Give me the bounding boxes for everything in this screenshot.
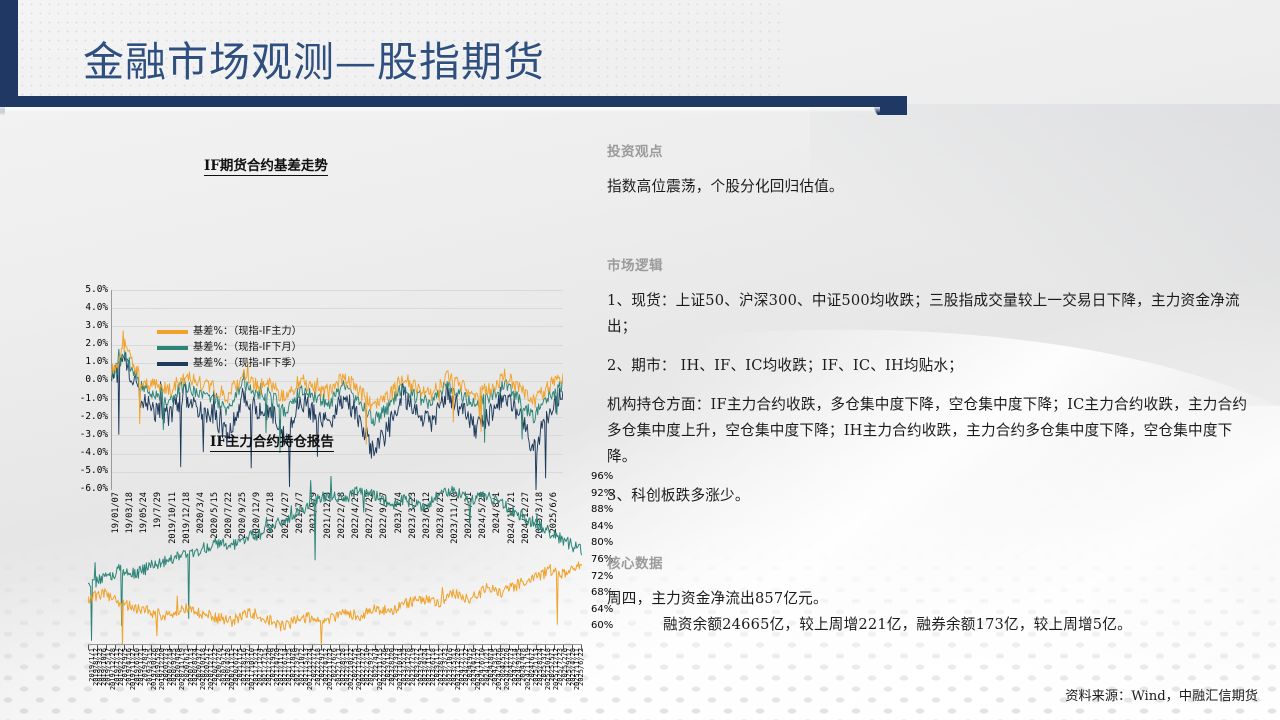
chart2-x-tick: 2021/3/19 xyxy=(293,648,297,686)
text-logic-spot: 1、现货：上证50、沪深300、中证500均收跌；三股指成交量较上一交易日下降，… xyxy=(607,288,1257,340)
spacer-2 xyxy=(607,522,1257,552)
chart2-x-tick: 2023/12/8 xyxy=(404,648,408,686)
chart1-legend-item: 基差%：（现指-IF下月） xyxy=(157,340,302,356)
chart1-y-tick: 4.0% xyxy=(62,299,108,317)
text-investment-view: 指数高位震荡，个股分化回归估值。 xyxy=(607,174,1257,200)
heading-market-logic: 市场逻辑 xyxy=(607,254,1257,274)
slide-header: 金融市场观测—股指期货 xyxy=(0,0,1280,112)
text-logic-institutional: 机构持仓方面：IF主力合约收跌，多仓集中度下降，空仓集中度下降；IC主力合约收跌… xyxy=(607,392,1257,470)
chart-if-basis-trend: IF期货合约基差走势 5.0%4.0%3.0%2.0%1.0%0.0%-1.0%… xyxy=(62,140,562,430)
chart2-x-tick: 2020/6/2 xyxy=(183,648,187,682)
text-core-margin-balance: 融资余额24665亿，较上周增221亿，融券余额173亿，较上周增5亿。 xyxy=(607,612,1257,638)
chart2-series-canvas xyxy=(88,476,582,645)
chart1-legend-item: 基差%：（现指-IF下季） xyxy=(157,356,302,372)
chart2-x-tick: 2022/6/6 xyxy=(330,648,334,682)
chart2-x-tick: 2024/6/10 xyxy=(478,648,482,686)
chart1-y-tick: 5.0% xyxy=(62,281,108,299)
chart2-x-tick: 2020/2/6 xyxy=(215,648,219,682)
chart2-x-tick: 2023/3/23 xyxy=(441,648,445,686)
chart2-x-tick: 2021/12/4 xyxy=(256,648,260,686)
chart1-y-tick: -1.0% xyxy=(62,390,108,408)
chart1-y-tick: -2.0% xyxy=(62,408,108,426)
chart2-x-tick: 2022/9/21 xyxy=(367,648,371,686)
legend-label: 基差%：（现指-IF主力） xyxy=(193,324,302,340)
legend-label: 基差%：（现指-IF下月） xyxy=(193,340,302,356)
chart2-x-tick: 2024/4/8 xyxy=(519,648,523,682)
chart1-legend-item: 基差%：（现指-IF主力） xyxy=(157,324,302,340)
chart1-y-tick: 1.0% xyxy=(62,353,108,371)
chart2-x-tick: 2020/9/17 xyxy=(220,648,224,686)
chart1-y-tick: 0.0% xyxy=(62,371,108,389)
chart2-plot-area xyxy=(88,476,582,645)
chart2-x-tick: 2023/10/6 xyxy=(446,648,450,686)
text-core-fund-flow: 周四，主力资金净流出857亿元。 xyxy=(607,586,1257,612)
chart2-x-tick: 2020/11/19 xyxy=(178,648,182,690)
chart2-title: IF主力合约持仓报告 xyxy=(210,430,334,452)
heading-core-data: 核心数据 xyxy=(607,552,1257,572)
chart1-legend: 基差%：（现指-IF主力）基差%：（现指-IF下月）基差%：（现指-IF下季） xyxy=(157,324,302,372)
commentary-panel: 投资观点 指数高位震荡，个股分化回归估值。 市场逻辑 1、现货：上证50、沪深3… xyxy=(607,140,1257,638)
text-logic-futures: 2、期市： IH、IF、IC均收跌；IF、IC、IH均贴水； xyxy=(607,353,1257,379)
chart1-y-tick: 2.0% xyxy=(62,335,108,353)
chart-if-main-position-report: IF主力合约持仓报告 前20名多仓总量占比前20名空仓总量占比前20名多仓总量占… xyxy=(62,428,572,706)
chart1-title: IF期货合约基差走势 xyxy=(204,154,328,176)
heading-investment-view: 投资观点 xyxy=(607,140,1257,160)
page-title: 金融市场观测—股指期货 xyxy=(83,36,545,88)
legend-color-swatch xyxy=(157,346,188,349)
chart2-x-axis-labels: 2019/1/12019/8/122019/3/232019/10/62019/… xyxy=(88,648,582,720)
text-logic-star-market: 3、科创板跌多涨少。 xyxy=(607,483,1257,509)
header-divider-bar xyxy=(0,96,905,107)
chart2-x-tick: 2025/6/22 xyxy=(577,648,581,686)
legend-label: 基差%：（现指-IF下季） xyxy=(193,356,302,372)
chart1-y-tick: 3.0% xyxy=(62,317,108,335)
chart2-x-tick: 2019/8/4 xyxy=(141,648,145,682)
source-note: 资料来源：Wind，中融汇信期货 xyxy=(1065,685,1258,704)
legend-color-swatch xyxy=(157,330,188,333)
header-divider-highlight xyxy=(0,107,880,113)
chart2-x-tick: 2019/5/17 xyxy=(104,648,108,686)
chart2-x-tick: 2024/1/21 xyxy=(483,648,487,686)
spacer-1 xyxy=(607,213,1257,254)
legend-color-swatch xyxy=(157,362,188,365)
chart2-x-tick: 2025/7/23 xyxy=(556,648,560,686)
